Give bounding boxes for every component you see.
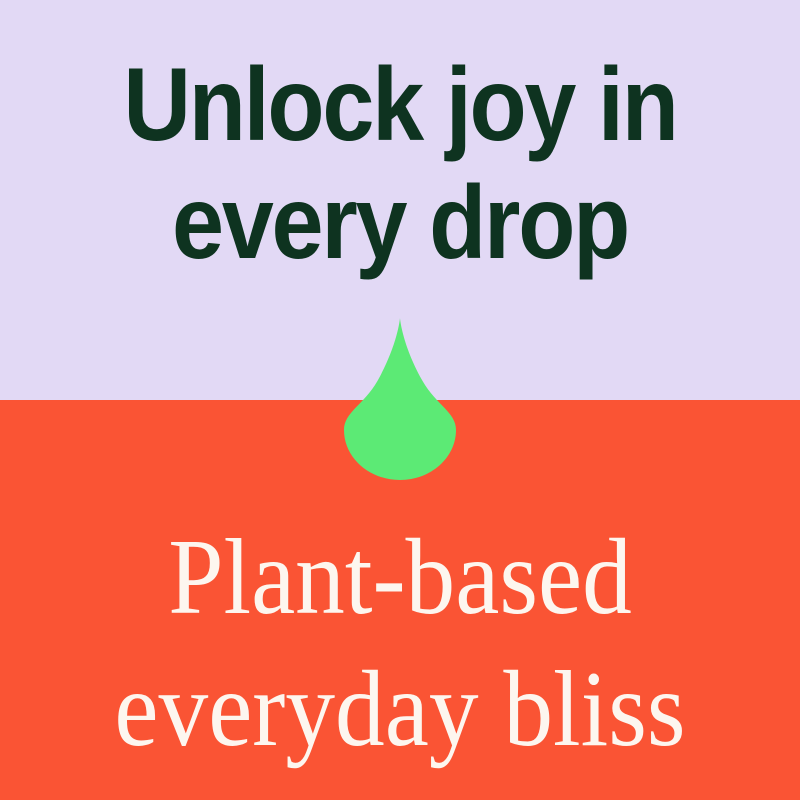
headline-line-2: every drop: [40, 164, 760, 282]
water-droplet-icon: [344, 318, 456, 480]
subtitle-block: Plant-based everyday bliss: [32, 512, 768, 776]
headline-line-1: Unlock joy in: [40, 46, 760, 164]
subtitle-line-1: Plant-based: [32, 512, 768, 644]
droplet-graphic: [344, 318, 456, 480]
subtitle-line-2: everyday bliss: [32, 644, 768, 776]
headline-block: Unlock joy in every drop: [40, 46, 760, 282]
poster-canvas: Unlock joy in every drop Plant-based eve…: [0, 0, 800, 800]
